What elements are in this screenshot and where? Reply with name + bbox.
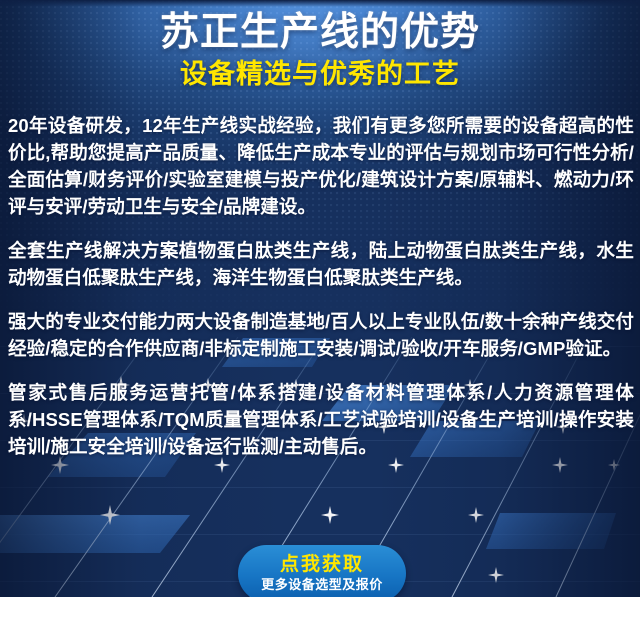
page-title: 苏正生产线的优势 xyxy=(0,10,640,56)
paragraph-1: 20年设备研发，12年生产线实战经验，我们有更多您所需要的设备超高的性价比,帮助… xyxy=(8,112,634,220)
paragraph-3: 强大的专业交付能力两大设备制造基地/百人以上专业队伍/数十余种产线交付经验/稳定… xyxy=(8,308,634,362)
paragraph-2: 全套生产线解决方案植物蛋白肽类生产线，陆上动物蛋白肽类生产线，水生动物蛋白低聚肽… xyxy=(8,237,634,291)
body-copy: 20年设备研发，12年生产线实战经验，我们有更多您所需要的设备超高的性价比,帮助… xyxy=(8,112,634,460)
bottom-white-strip xyxy=(0,597,640,631)
paragraph-4: 管家式售后服务运营托管/体系搭建/设备材料管理体系/人力资源管理体系/HSSE管… xyxy=(8,379,634,460)
promo-poster: 苏正生产线的优势 设备精选与优秀的工艺 20年设备研发，12年生产线实战经验，我… xyxy=(0,0,640,631)
page-subtitle: 设备精选与优秀的工艺 xyxy=(0,58,640,90)
cta-button[interactable]: 点我获取 更多设备选型及报价 xyxy=(238,545,406,602)
top-shadow-band xyxy=(0,0,640,7)
cta-main-label: 点我获取 xyxy=(280,554,364,576)
cta-sub-label: 更多设备选型及报价 xyxy=(261,576,383,594)
